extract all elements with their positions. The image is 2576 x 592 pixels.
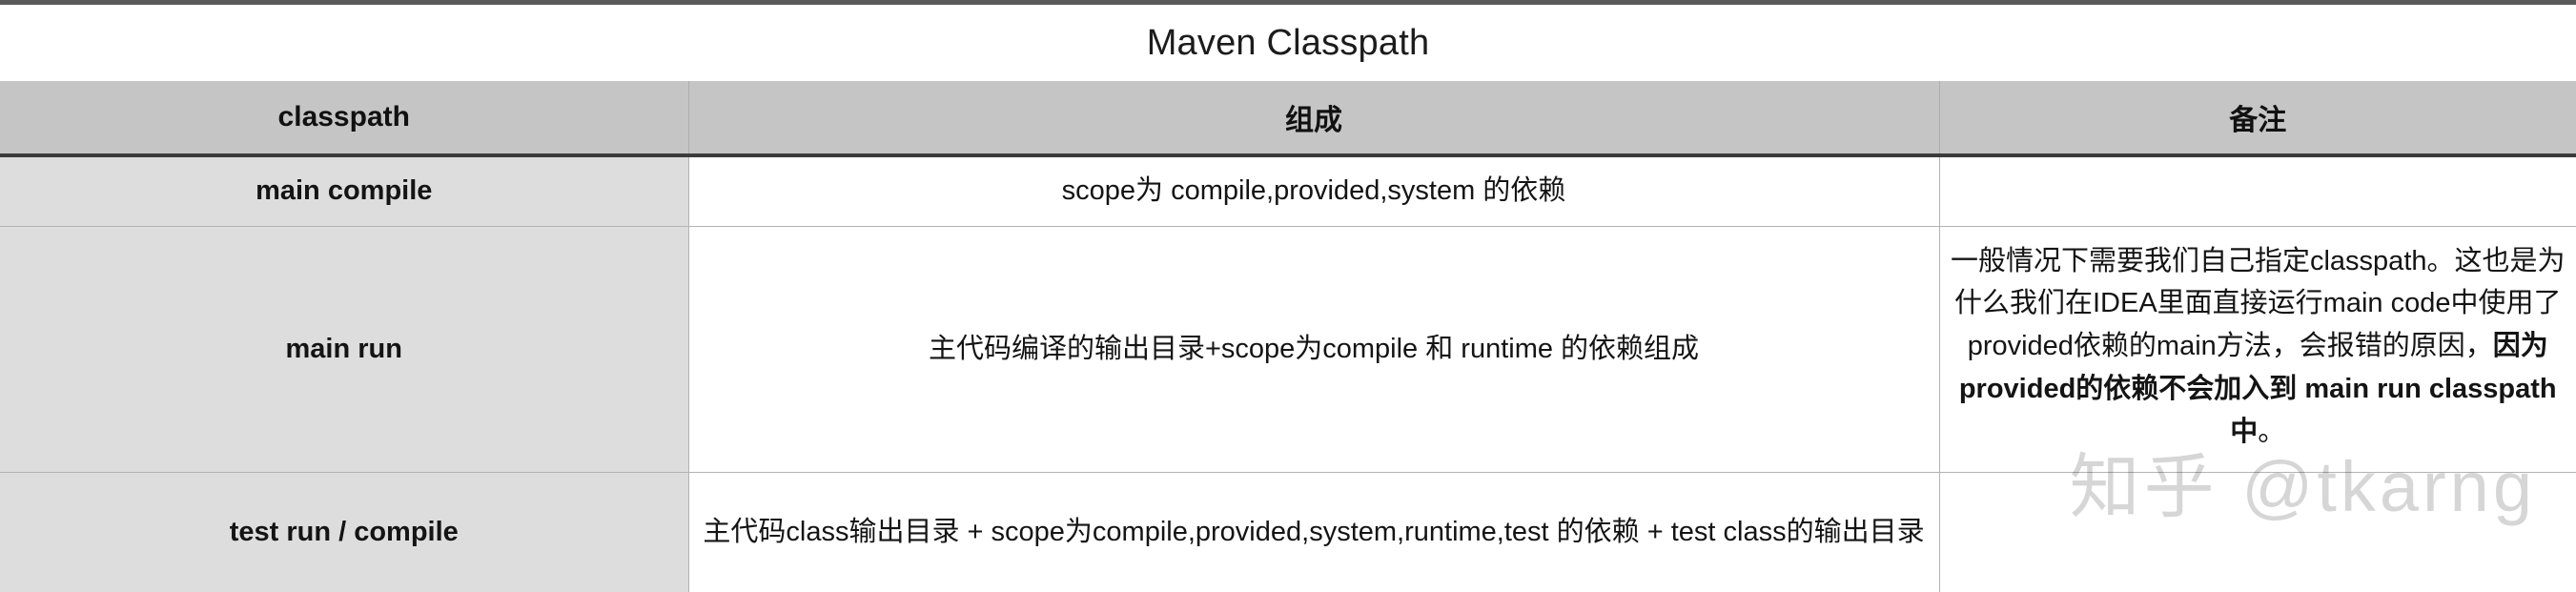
column-header-classpath: classpath [0, 81, 688, 155]
table-row: test run / compile 主代码class输出目录 + scope为… [0, 472, 2576, 592]
cell-composition-main-compile: scope为 compile,provided,system 的依赖 [688, 155, 1939, 226]
cell-classpath-main-compile: main compile [0, 155, 688, 226]
page-root: Maven Classpath classpath 组成 备注 main com… [0, 0, 2576, 587]
remarks-text-normal-tail: 。 [2258, 417, 2285, 447]
cell-classpath-test-run-compile: test run / compile [0, 472, 688, 592]
cell-classpath-main-run: main run [0, 226, 688, 472]
maven-classpath-table: classpath 组成 备注 main compile scope为 comp… [0, 81, 2576, 592]
cell-composition-main-run: 主代码编译的输出目录+scope为compile 和 runtime 的依赖组成 [688, 226, 1939, 472]
cell-remarks-test-run-compile [1939, 472, 2576, 592]
column-header-composition: 组成 [688, 81, 1939, 155]
cell-composition-test-run-compile: 主代码class输出目录 + scope为compile,provided,sy… [688, 472, 1939, 592]
table-row: main compile scope为 compile,provided,sys… [0, 155, 2576, 226]
table-header-row: classpath 组成 备注 [0, 81, 2576, 155]
cell-remarks-main-compile [1939, 155, 2576, 226]
page-title: Maven Classpath [1147, 23, 1430, 64]
page-title-bar: Maven Classpath [0, 5, 2576, 81]
table-row: main run 主代码编译的输出目录+scope为compile 和 runt… [0, 226, 2576, 472]
cell-remarks-main-run: 一般情况下需要我们自己指定classpath。这也是为什么我们在IDEA里面直接… [1939, 226, 2576, 472]
remarks-text-normal-lead: 一般情况下需要我们自己指定classpath。这也是为什么我们在IDEA里面直接… [1951, 246, 2566, 362]
column-header-remarks: 备注 [1939, 81, 2576, 155]
